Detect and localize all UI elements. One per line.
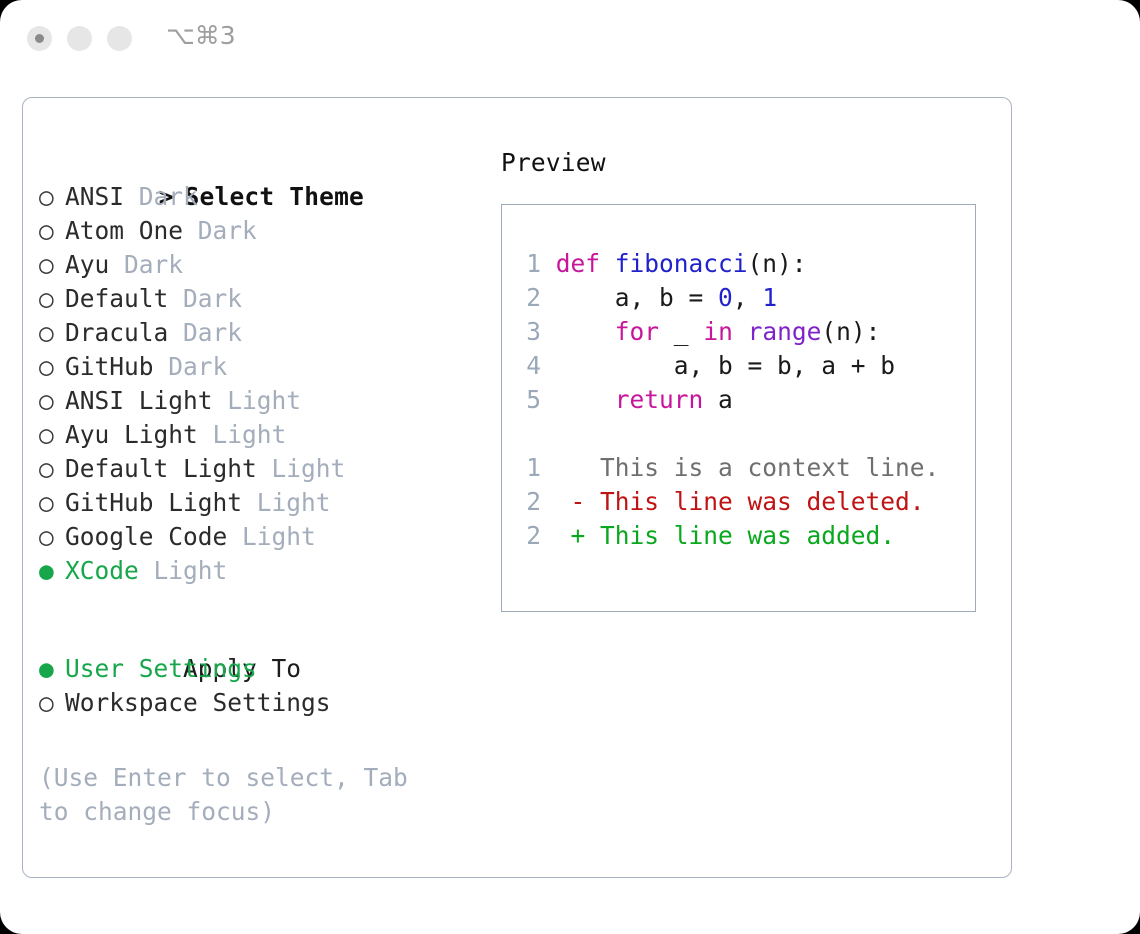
gutter-space (541, 351, 556, 380)
diff-lines: 1 This is a context line.2 - This line w… (519, 451, 969, 553)
code-line: 3 for _ in range(n): (519, 315, 969, 349)
theme-list: ○ANSI Dark○Atom One Dark○Ayu Dark○Defaul… (39, 180, 479, 588)
theme-option-google-code[interactable]: ○Google Code Light (39, 520, 479, 554)
code-token-plain: (n): (821, 317, 880, 346)
line-number: 2 (519, 281, 541, 315)
gutter-space (541, 249, 556, 278)
radio-unselected-icon: ○ (39, 520, 65, 554)
radio-selected-icon: ● (39, 652, 65, 686)
line-number: 5 (519, 383, 541, 417)
diff-line-add: 2 + This line was added. (519, 519, 969, 553)
spacer (39, 588, 479, 618)
traffic-light-active[interactable] (27, 26, 52, 51)
theme-option-label: XCode (65, 556, 154, 585)
line-number: 1 (519, 247, 541, 281)
gutter-space (541, 385, 556, 414)
code-line: 5 return a (519, 383, 969, 417)
diff-text: This is a context line. (600, 453, 939, 482)
diff-sign (541, 453, 600, 482)
theme-option-label: Dracula (65, 318, 183, 347)
code-token-num: 1 (762, 283, 777, 312)
code-line: 2 a, b = 0, 1 (519, 281, 969, 315)
preview-gap (519, 417, 969, 451)
theme-option-xcode[interactable]: ●XCode Light (39, 554, 479, 588)
preview-box: 1 def fibonacci(n):2 a, b = 0, 13 for _ … (501, 204, 976, 612)
theme-option-github[interactable]: ○GitHub Dark (39, 350, 479, 384)
radio-unselected-icon: ○ (39, 350, 65, 384)
theme-option-label: Default Light (65, 454, 272, 483)
theme-variant-label: Light (242, 522, 316, 551)
preview-column: Preview 1 def fibonacci(n):2 a, b = 0, 1… (501, 146, 991, 612)
code-token-num: 0 (718, 283, 733, 312)
theme-option-default-light[interactable]: ○Default Light Light (39, 452, 479, 486)
radio-unselected-icon: ○ (39, 486, 65, 520)
code-token-kw: def (556, 249, 615, 278)
theme-variant-label: Light (272, 454, 346, 483)
apply-to-header: Apply To (39, 618, 479, 652)
theme-variant-label: Dark (183, 284, 242, 313)
code-token-plain: a (703, 385, 733, 414)
theme-variant-label: Light (154, 556, 228, 585)
gutter-space (541, 283, 556, 312)
code-token-plain: (n): (748, 249, 807, 278)
diff-sign: - (541, 487, 600, 516)
code-token-bi: range (748, 317, 822, 346)
radio-unselected-icon: ○ (39, 686, 65, 720)
theme-option-ansi-light[interactable]: ○ANSI Light Light (39, 384, 479, 418)
select-theme-title: Select Theme (185, 182, 364, 211)
diff-sign: + (541, 521, 600, 550)
gutter-space (541, 317, 556, 346)
theme-variant-label: Dark (183, 318, 242, 347)
diff-line-ctx: 1 This is a context line. (519, 451, 969, 485)
radio-unselected-icon: ○ (39, 452, 65, 486)
theme-option-label: ANSI (65, 182, 139, 211)
radio-unselected-icon: ○ (39, 316, 65, 350)
apply-to-option-workspace-settings[interactable]: ○Workspace Settings (39, 686, 479, 720)
theme-variant-label: Light (213, 420, 287, 449)
title-bar: ⌥⌘3 (0, 0, 1140, 76)
app-window: ⌥⌘3 >Select Theme ○ANSI Dark○Atom One Da… (0, 0, 1140, 934)
theme-option-label: Ayu (65, 250, 124, 279)
radio-unselected-icon: ○ (39, 214, 65, 248)
theme-option-label: Atom One (65, 216, 198, 245)
theme-option-ayu[interactable]: ○Ayu Dark (39, 248, 479, 282)
radio-selected-icon: ● (39, 554, 65, 588)
theme-variant-label: Dark (198, 216, 257, 245)
apply-to-option-label: User Settings (65, 654, 257, 683)
theme-picker-column: >Select Theme ○ANSI Dark○Atom One Dark○A… (39, 146, 479, 720)
diff-line-number: 2 (519, 485, 541, 519)
keyboard-shortcut-label: ⌥⌘3 (166, 21, 236, 50)
diff-text: This line was added. (600, 521, 895, 550)
apply-to-option-label: Workspace Settings (65, 688, 331, 717)
theme-option-label: ANSI Light (65, 386, 227, 415)
code-line: 1 def fibonacci(n): (519, 247, 969, 281)
theme-variant-label: Dark (124, 250, 183, 279)
theme-option-label: Ayu Light (65, 420, 213, 449)
code-token-plain: _ (659, 317, 703, 346)
code-token-plain: a, b = (556, 283, 718, 312)
diff-line-del: 2 - This line was deleted. (519, 485, 969, 519)
code-token-plain: , (733, 283, 763, 312)
line-number: 3 (519, 315, 541, 349)
code-token-kw: for (615, 317, 659, 346)
radio-unselected-icon: ○ (39, 248, 65, 282)
traffic-light-second[interactable] (67, 26, 92, 51)
code-token-kw: in (703, 317, 733, 346)
traffic-light-dot-icon (35, 34, 44, 43)
theme-option-ayu-light[interactable]: ○Ayu Light Light (39, 418, 479, 452)
code-token-kw: return (615, 385, 704, 414)
theme-variant-label: Light (257, 488, 331, 517)
main-panel: >Select Theme ○ANSI Dark○Atom One Dark○A… (22, 97, 1012, 878)
theme-option-dracula[interactable]: ○Dracula Dark (39, 316, 479, 350)
theme-option-default[interactable]: ○Default Dark (39, 282, 479, 316)
code-lines: 1 def fibonacci(n):2 a, b = 0, 13 for _ … (519, 247, 969, 417)
code-token-plain (733, 317, 748, 346)
theme-option-label: GitHub Light (65, 488, 257, 517)
code-line: 4 a, b = b, a + b (519, 349, 969, 383)
theme-option-atom-one[interactable]: ○Atom One Dark (39, 214, 479, 248)
radio-unselected-icon: ○ (39, 418, 65, 452)
traffic-light-third[interactable] (107, 26, 132, 51)
theme-variant-label: Dark (139, 182, 198, 211)
radio-unselected-icon: ○ (39, 180, 65, 214)
theme-option-label: Google Code (65, 522, 242, 551)
code-token-plain (556, 385, 615, 414)
preview-title: Preview (501, 146, 991, 180)
diff-line-number: 1 (519, 451, 541, 485)
diff-text: This line was deleted. (600, 487, 925, 516)
radio-unselected-icon: ○ (39, 384, 65, 418)
diff-line-number: 2 (519, 519, 541, 553)
theme-variant-label: Dark (168, 352, 227, 381)
code-preview: 1 def fibonacci(n):2 a, b = 0, 13 for _ … (519, 247, 969, 553)
line-number: 4 (519, 349, 541, 383)
code-token-fn: fibonacci (615, 249, 748, 278)
radio-unselected-icon: ○ (39, 282, 65, 316)
theme-option-label: Default (65, 284, 183, 313)
select-theme-header: >Select Theme (39, 146, 479, 180)
theme-option-github-light[interactable]: ○GitHub Light Light (39, 486, 479, 520)
theme-option-label: GitHub (65, 352, 168, 381)
keyboard-hint: (Use Enter to select, Tab to change focu… (39, 761, 449, 829)
code-token-plain (556, 317, 615, 346)
code-token-plain: a, b = b, a + b (556, 351, 895, 380)
theme-variant-label: Light (227, 386, 301, 415)
